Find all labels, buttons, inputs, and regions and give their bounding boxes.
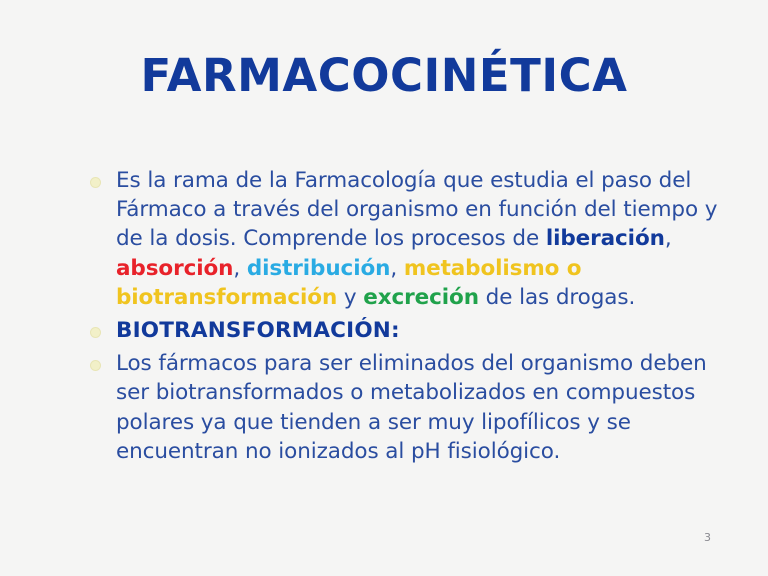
dot-bullet-icon [91, 361, 100, 370]
connector-y: y [337, 285, 363, 310]
page-number: 3 [704, 531, 711, 544]
dot-bullet-icon [91, 178, 100, 187]
page-title: FARMACOCINÉTICA [0, 52, 768, 99]
list-item: BIOTRANSFORMACIÓN: [86, 316, 718, 345]
slide: FARMACOCINÉTICA Es la rama de la Farmaco… [0, 0, 768, 576]
keyword-liberacion: liberación [546, 226, 665, 251]
bullet-item-biotransformacion-heading: BIOTRANSFORMACIÓN: [116, 318, 400, 343]
separator-2: , [233, 256, 246, 281]
definicion-outro-text: de las drogas. [479, 285, 635, 310]
keyword-excrecion: excreción [363, 285, 479, 310]
list-item: Es la rama de la Farmacología que estudi… [86, 166, 718, 312]
keyword-distribucion: distribución [247, 256, 391, 281]
separator-3: , [390, 256, 403, 281]
bullet-item-biotransformacion-body: Los fármacos para ser eliminados del org… [116, 351, 707, 464]
separator-1: , [665, 226, 672, 251]
dot-bullet-icon [91, 328, 100, 337]
keyword-absorcion: absorción [116, 256, 233, 281]
slide-body: Es la rama de la Farmacología que estudi… [86, 166, 718, 470]
list-item: Los fármacos para ser eliminados del org… [86, 349, 718, 466]
bullet-item-definicion: Es la rama de la Farmacología que estudi… [116, 168, 717, 310]
